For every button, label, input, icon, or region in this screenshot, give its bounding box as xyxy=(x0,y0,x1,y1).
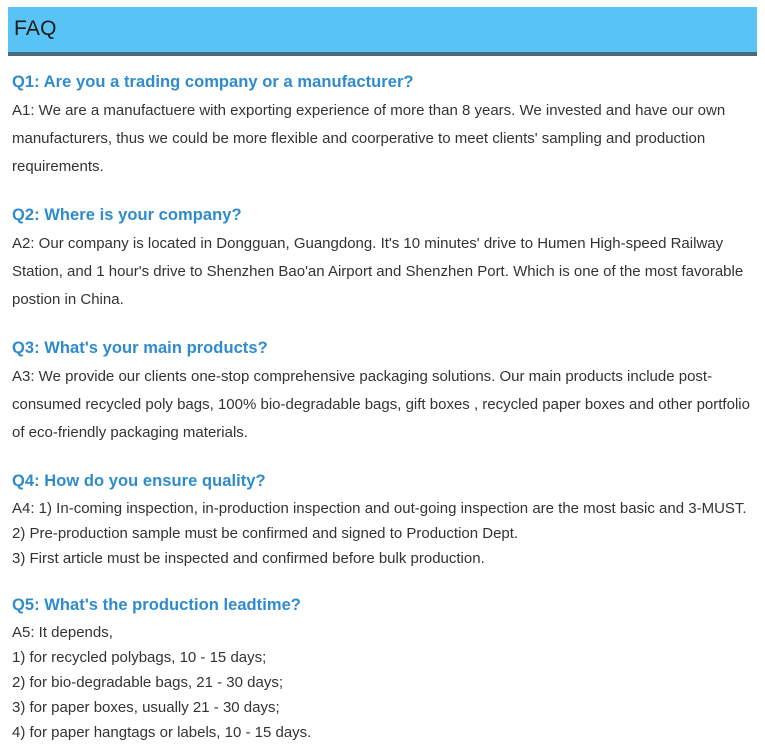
faq-answer-line: A4: 1) In-coming inspection, in-producti… xyxy=(12,496,752,521)
faq-answer-line: A5: It depends, xyxy=(12,620,752,645)
faq-answer: A3: We provide our clients one-stop comp… xyxy=(12,363,752,447)
faq-question: Q1: Are you a trading company or a manuf… xyxy=(12,70,752,94)
faq-answer-line: A3: We provide our clients one-stop comp… xyxy=(12,363,752,447)
faq-question: Q4: How do you ensure quality? xyxy=(12,469,752,493)
faq-answer-line: 2) for bio-degradable bags, 21 - 30 days… xyxy=(12,670,752,695)
faq-question: Q3: What's your main products? xyxy=(12,336,752,360)
faq-item: Q2: Where is your company?A2: Our compan… xyxy=(12,203,752,314)
faq-answer: A1: We are a manufactuere with exporting… xyxy=(12,97,752,181)
faq-answer-line: 3) for paper boxes, usually 21 - 30 days… xyxy=(12,695,752,720)
faq-answer-line: A2: Our company is located in Dongguan, … xyxy=(12,230,752,314)
faq-item: Q3: What's your main products?A3: We pro… xyxy=(12,336,752,447)
faq-answer-line: A1: We are a manufactuere with exporting… xyxy=(12,97,752,181)
faq-question: Q5: What's the production leadtime? xyxy=(12,593,752,617)
faq-answer-line: 4) for paper hangtags or labels, 10 - 15… xyxy=(12,720,752,745)
faq-item: Q4: How do you ensure quality?A4: 1) In-… xyxy=(12,469,752,571)
faq-answer: A2: Our company is located in Dongguan, … xyxy=(12,230,752,314)
faq-item: Q1: Are you a trading company or a manuf… xyxy=(12,70,752,181)
faq-answer-line: 2) Pre-production sample must be confirm… xyxy=(12,521,752,546)
faq-question: Q2: Where is your company? xyxy=(12,203,752,227)
faq-header-bar: FAQ xyxy=(8,7,757,56)
faq-answer-line: 3) First article must be inspected and c… xyxy=(12,546,752,571)
faq-item: Q5: What's the production leadtime?A5: I… xyxy=(12,593,752,745)
page-title: FAQ xyxy=(14,15,57,43)
faq-answer: A4: 1) In-coming inspection, in-producti… xyxy=(12,496,752,571)
faq-answer-line: 1) for recycled polybags, 10 - 15 days; xyxy=(12,645,752,670)
faq-list: Q1: Are you a trading company or a manuf… xyxy=(12,70,752,745)
faq-answer: A5: It depends,1) for recycled polybags,… xyxy=(12,620,752,745)
faq-page: FAQ Q1: Are you a trading company or a m… xyxy=(0,0,765,748)
